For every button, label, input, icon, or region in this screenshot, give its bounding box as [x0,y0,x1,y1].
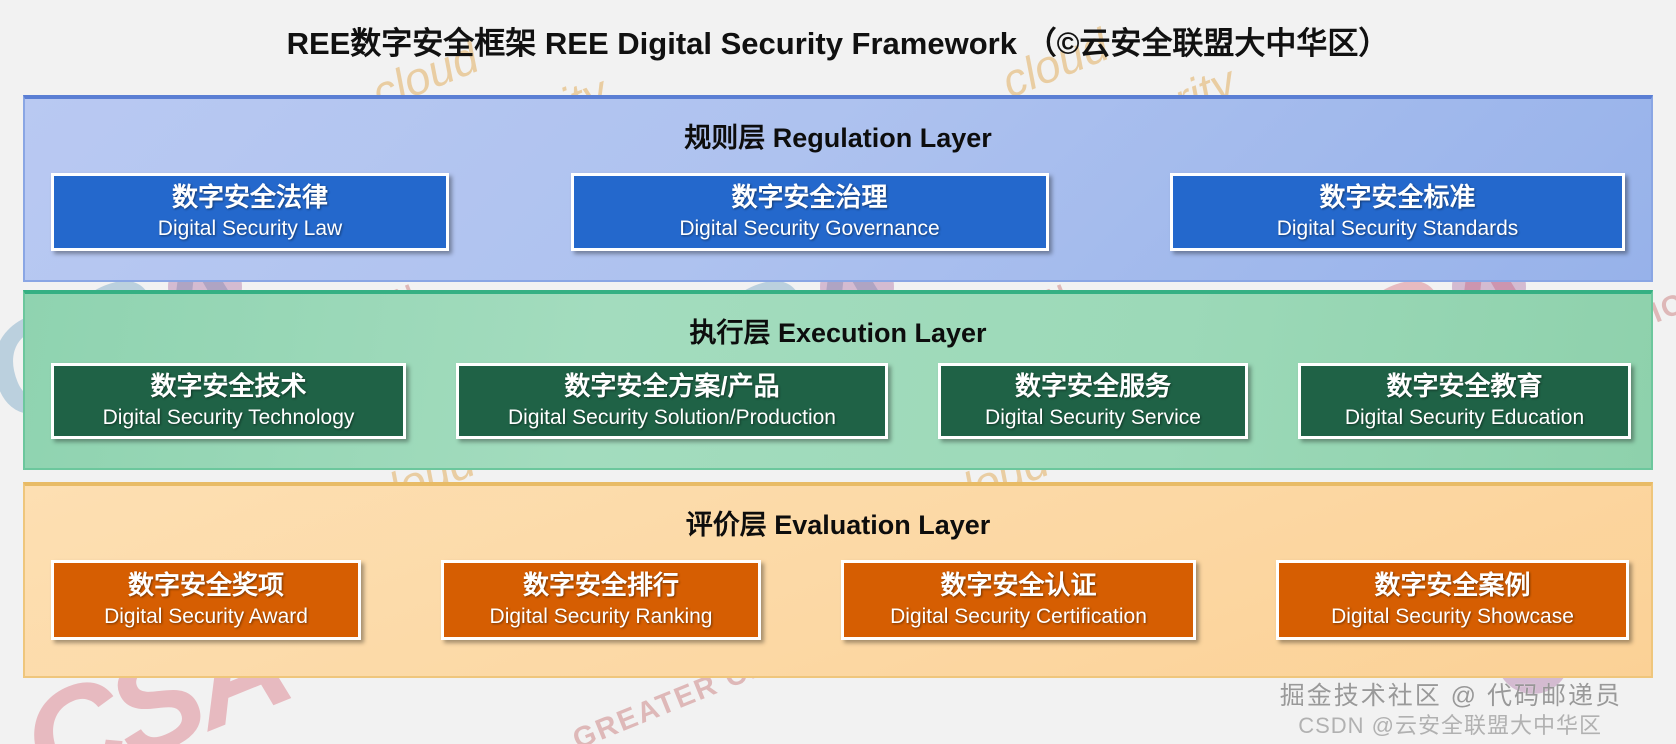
box-digital-security-law[interactable]: 数字安全法律 Digital Security Law [51,173,449,251]
box-title-cn: 数字安全认证 [940,571,1096,601]
evaluation-layer: 评价层 Evaluation Layer 数字安全奖项 Digital Secu… [23,482,1653,678]
box-digital-security-ranking[interactable]: 数字安全排行 Digital Security Ranking [441,560,761,640]
box-digital-security-certification[interactable]: 数字安全认证 Digital Security Certification [841,560,1196,640]
box-title-cn: 数字安全标准 [1319,183,1475,213]
regulation-layer: 规则层 Regulation Layer 数字安全法律 Digital Secu… [23,95,1653,282]
box-digital-security-governance[interactable]: 数字安全治理 Digital Security Governance [571,173,1049,251]
box-digital-security-education[interactable]: 数字安全教育 Digital Security Education [1298,363,1631,439]
box-title-en: Digital Security Solution/Production [508,405,836,430]
box-digital-security-technology[interactable]: 数字安全技术 Digital Security Technology [51,363,406,439]
execution-layer-boxes: 数字安全技术 Digital Security Technology 数字安全方… [25,350,1651,439]
box-title-en: Digital Security Showcase [1331,604,1574,629]
box-title-en: Digital Security Governance [679,216,939,241]
execution-layer: 执行层 Execution Layer 数字安全技术 Digital Secur… [23,290,1653,470]
box-title-en: Digital Security Certification [890,604,1147,629]
page-title: REE数字安全框架 REE Digital Security Framework… [0,18,1676,63]
box-title-cn: 数字安全方案/产品 [564,372,779,402]
evaluation-layer-boxes: 数字安全奖项 Digital Security Award 数字安全排行 Dig… [25,542,1651,640]
box-title-cn: 数字安全排行 [523,571,679,601]
box-title-en: Digital Security Law [158,216,342,241]
box-digital-security-standards[interactable]: 数字安全标准 Digital Security Standards [1170,173,1625,251]
box-digital-security-solution-production[interactable]: 数字安全方案/产品 Digital Security Solution/Prod… [456,363,888,439]
box-title-cn: 数字安全技术 [150,372,306,402]
box-title-en: Digital Security Service [985,405,1201,430]
box-title-en: Digital Security Standards [1277,216,1519,241]
credit-watermark-main: 掘金技术社区 @ 代码邮递员 [1280,676,1622,712]
box-title-cn: 数字安全教育 [1386,372,1542,402]
box-digital-security-award[interactable]: 数字安全奖项 Digital Security Award [51,560,361,640]
box-title-cn: 数字安全法律 [172,183,328,213]
box-title-cn: 数字安全奖项 [128,571,284,601]
box-digital-security-service[interactable]: 数字安全服务 Digital Security Service [938,363,1248,439]
regulation-layer-boxes: 数字安全法律 Digital Security Law 数字安全治理 Digit… [25,155,1651,251]
regulation-layer-header: 规则层 Regulation Layer [25,99,1651,155]
box-title-cn: 数字安全服务 [1015,372,1171,402]
box-title-en: Digital Security Award [104,604,308,629]
box-title-en: Digital Security Ranking [490,604,713,629]
box-title-cn: 数字安全案例 [1374,571,1530,601]
execution-layer-header: 执行层 Execution Layer [25,294,1651,350]
evaluation-layer-header: 评价层 Evaluation Layer [25,486,1651,542]
box-title-en: Digital Security Technology [103,405,355,430]
box-title-en: Digital Security Education [1345,405,1584,430]
framework-diagram: cloud security alliance ® cloud security… [0,0,1676,744]
credit-watermark-sub: CSDN @云安全联盟大中华区 [1298,708,1602,740]
box-title-cn: 数字安全治理 [731,183,887,213]
box-digital-security-showcase[interactable]: 数字安全案例 Digital Security Showcase [1276,560,1629,640]
